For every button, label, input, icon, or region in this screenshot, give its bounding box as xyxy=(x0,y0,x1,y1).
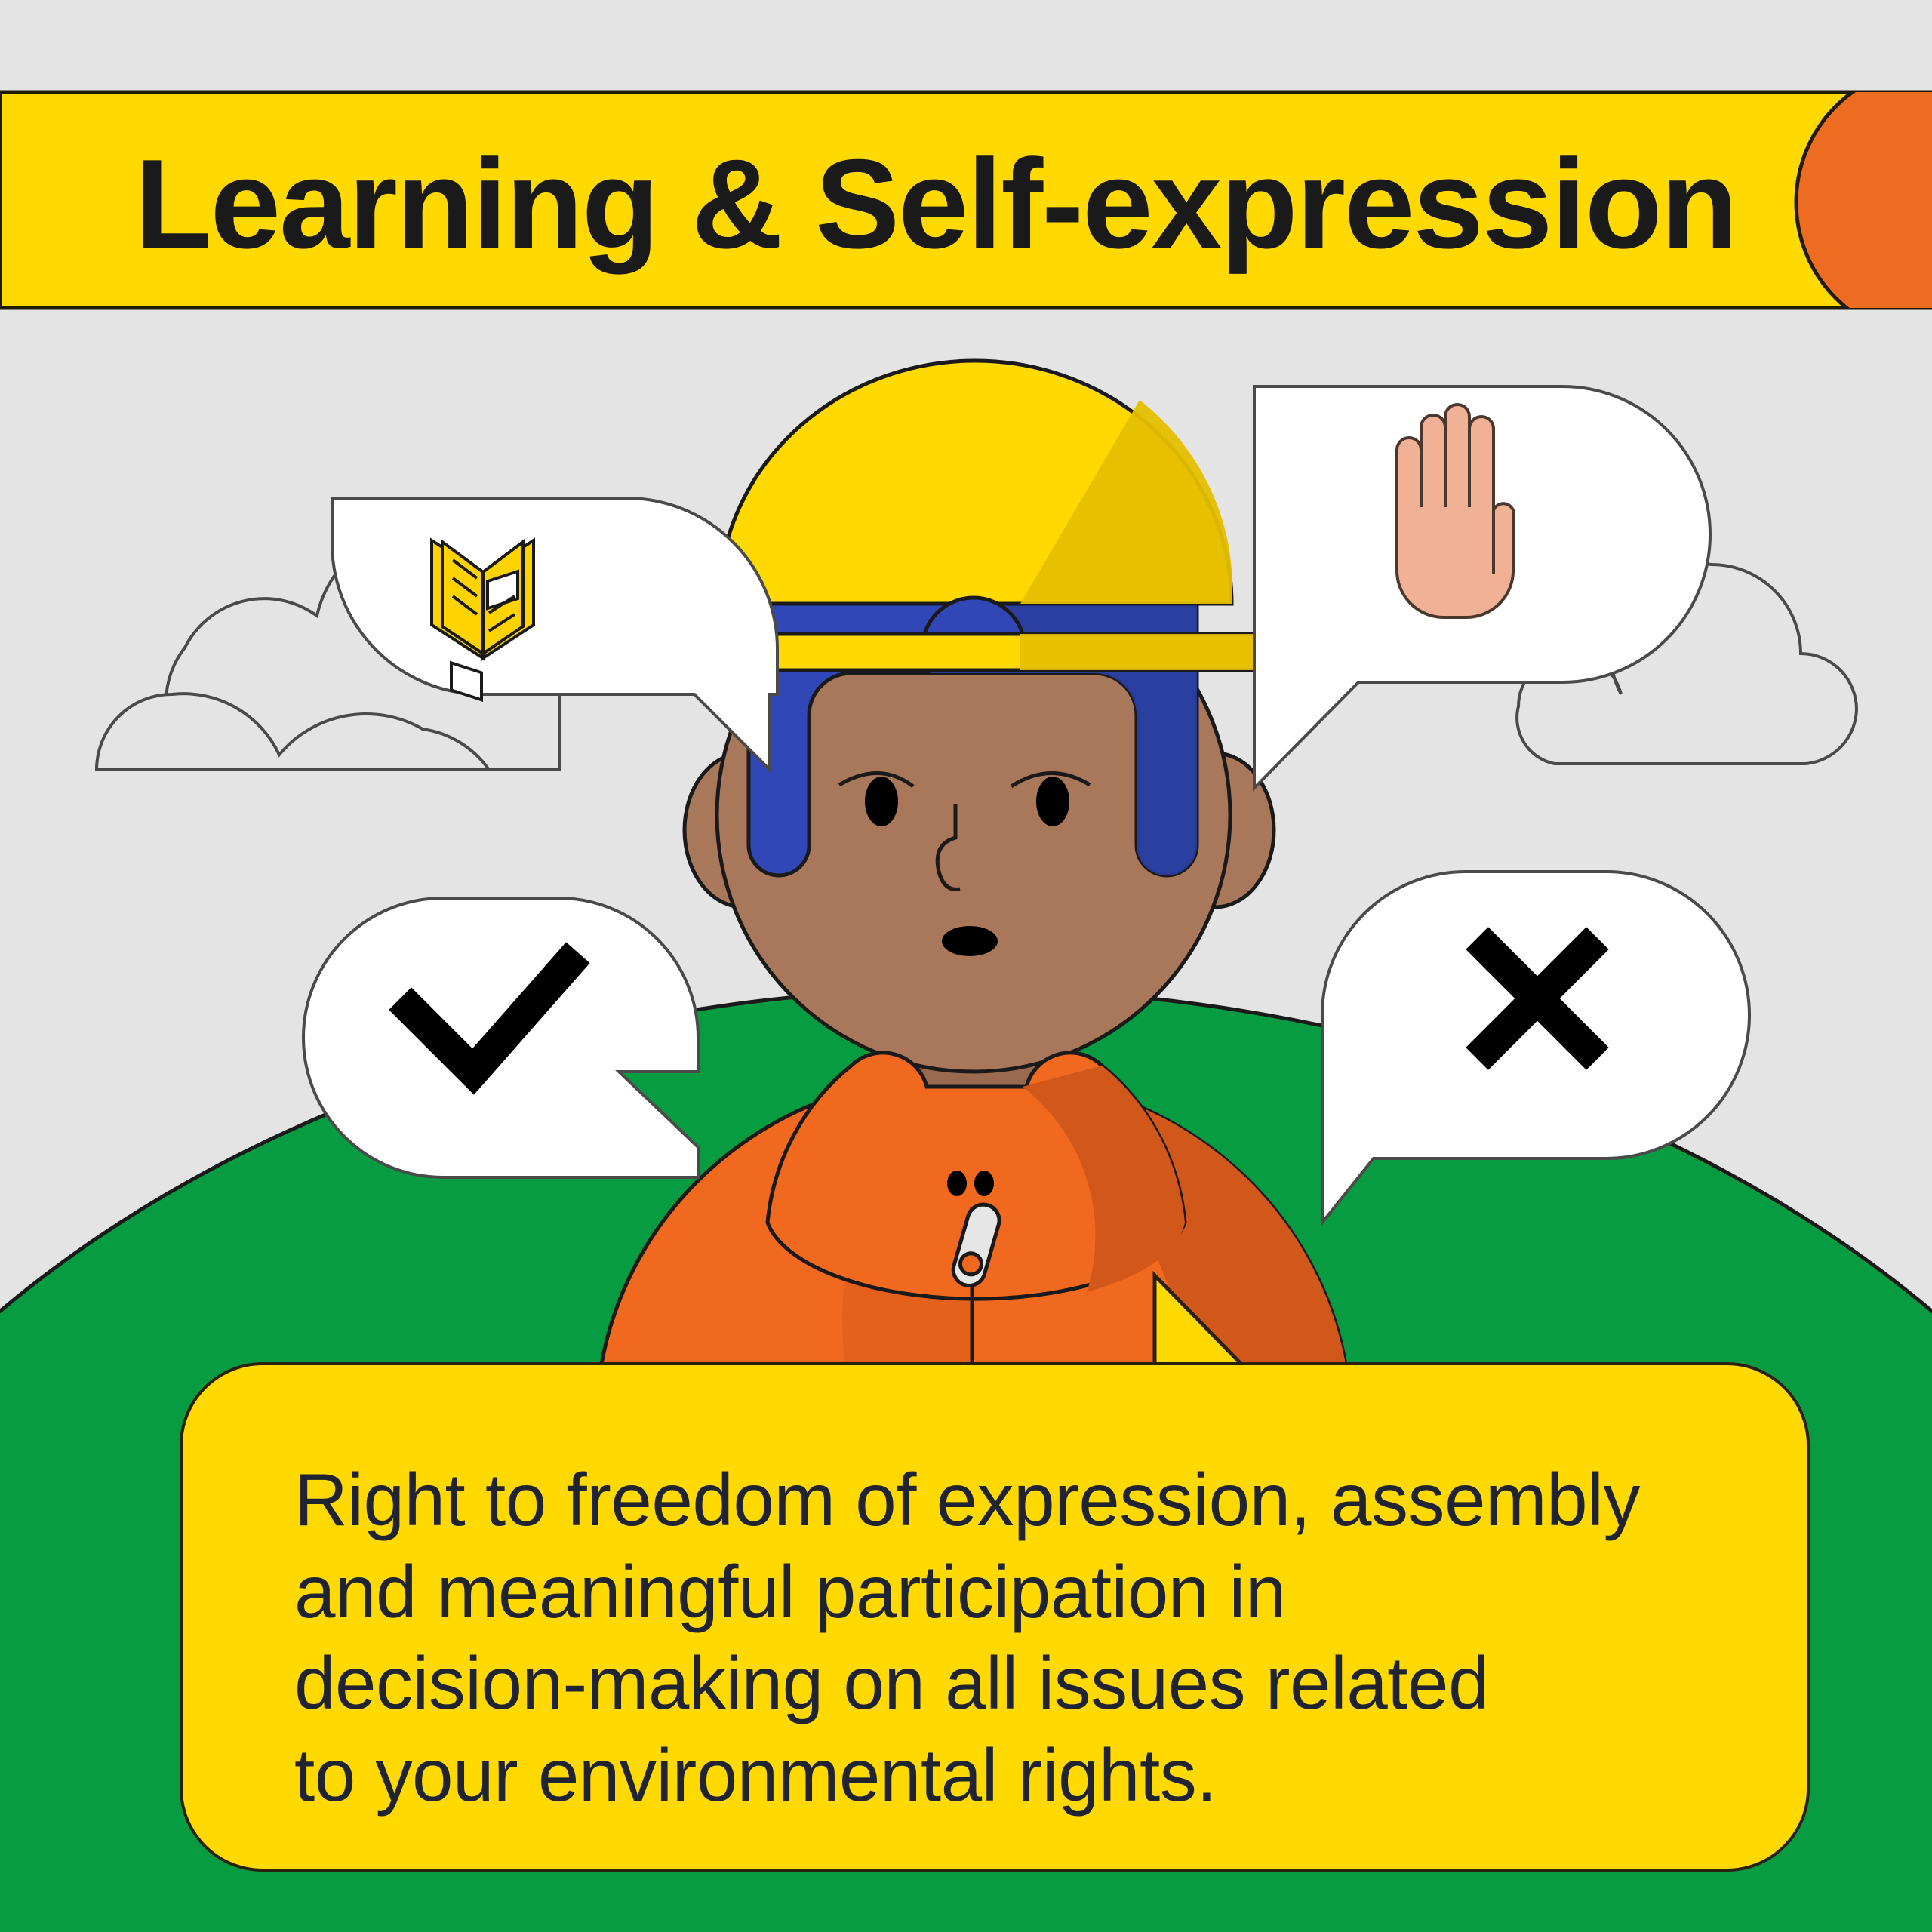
eye-right xyxy=(1036,777,1069,826)
eye-left xyxy=(865,777,898,826)
callout-text: Right to freedom of expression, assembly… xyxy=(294,1454,1807,1821)
mouth xyxy=(942,926,998,956)
bubble-check[interactable] xyxy=(303,898,698,1177)
drawstring-hole-left xyxy=(947,1171,967,1196)
callout-line-2: and meaningful participation in xyxy=(294,1546,1807,1638)
page-title: Learning & Self-expression xyxy=(134,133,1737,275)
callout-line-3: decision-making on all issues related xyxy=(294,1638,1807,1730)
infographic-card: Learning & Self-expression xyxy=(0,0,1932,1932)
callout-line-1: Right to freedom of expression, assembly xyxy=(294,1454,1807,1546)
callout-line-4: to your environmental rights. xyxy=(294,1730,1807,1822)
callout-box: Right to freedom of expression, assembly… xyxy=(180,1362,1810,1872)
header-banner: Learning & Self-expression xyxy=(0,66,1932,338)
drawstring-hole-right xyxy=(974,1171,994,1196)
